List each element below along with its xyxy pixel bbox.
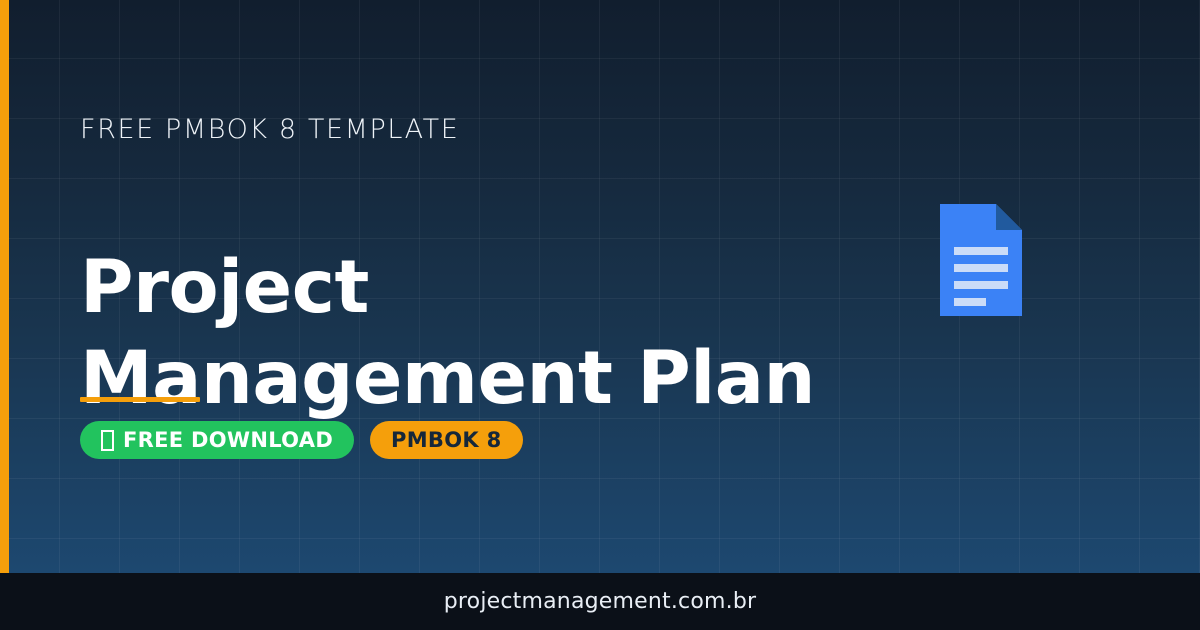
document-icon [940, 204, 1022, 316]
free-download-badge[interactable]: FREE DOWNLOAD [80, 421, 354, 459]
eyebrow-label: FREE PMBOK 8 TEMPLATE [80, 113, 459, 147]
promo-banner: FREE PMBOK 8 TEMPLATE Project Management… [0, 0, 1200, 630]
footer-bar: projectmanagement.com.br [0, 573, 1200, 630]
title-divider [80, 397, 200, 402]
pmbok-version-badge-label: PMBOK 8 [391, 428, 501, 452]
hero-content: FREE PMBOK 8 TEMPLATE Project Management… [80, 0, 880, 573]
document-icon-line [954, 247, 1008, 255]
badge-group: FREE DOWNLOAD PMBOK 8 [80, 421, 523, 459]
document-icon-line [954, 298, 986, 306]
free-download-badge-label: FREE DOWNLOAD [123, 428, 333, 452]
download-icon [101, 430, 114, 451]
footer-website-url[interactable]: projectmanagement.com.br [444, 589, 757, 614]
pmbok-version-badge[interactable]: PMBOK 8 [370, 421, 522, 459]
document-icon-fold [996, 204, 1022, 230]
left-accent-bar [0, 0, 9, 573]
document-icon-line [954, 281, 1008, 289]
document-icon-line [954, 264, 1008, 272]
